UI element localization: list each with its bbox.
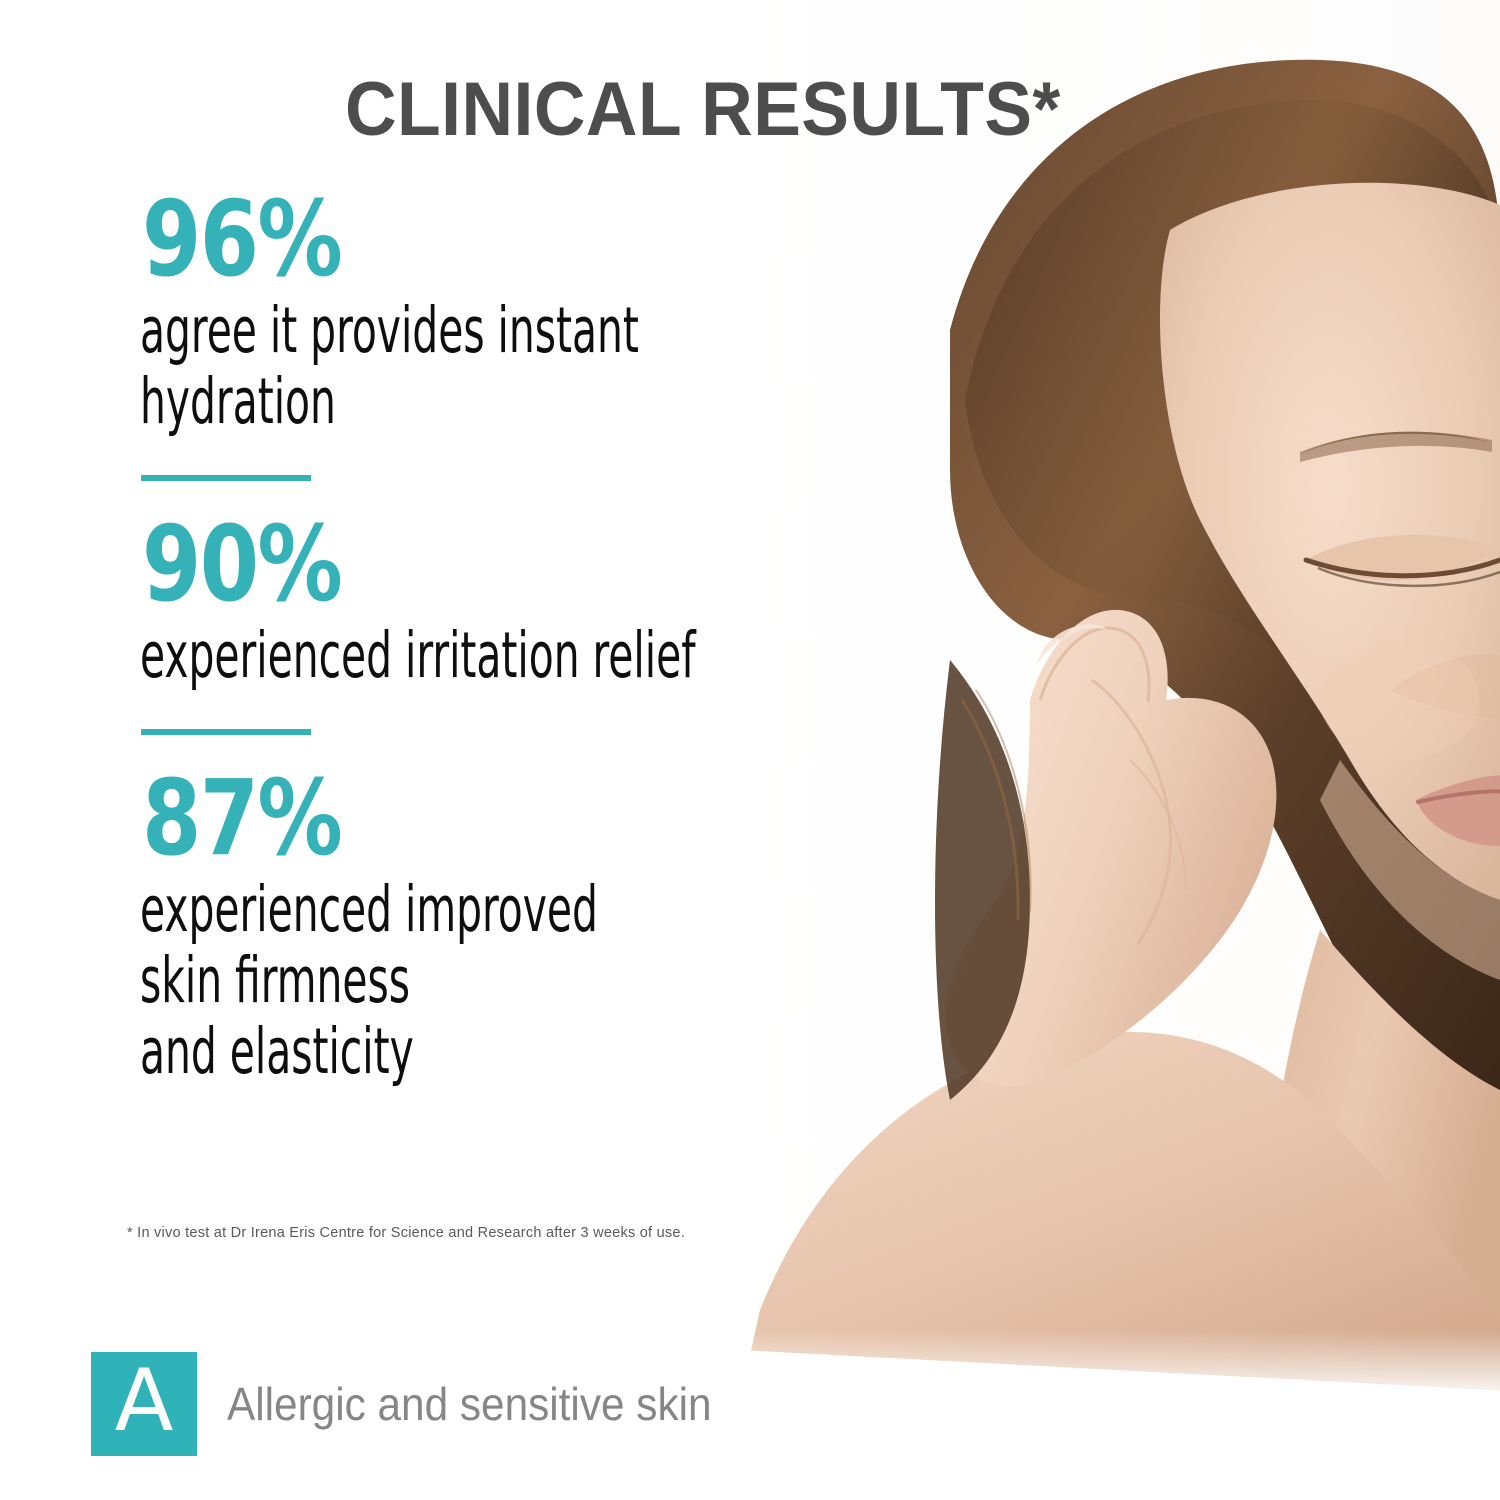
footnote: * In vivo test at Dr Irena Eris Centre f… xyxy=(127,1225,685,1242)
page-title: CLINICAL RESULTS* xyxy=(345,72,1061,148)
stat-item: 87% experienced improved skin firmness a… xyxy=(140,769,1100,1087)
stat-percent: 96% xyxy=(142,190,928,289)
clinical-results-infographic: CLINICAL RESULTS* 96% agree it provides … xyxy=(0,0,1500,1500)
badge-letter: A xyxy=(115,1358,174,1444)
stat-divider xyxy=(141,729,311,735)
stats-list: 96% agree it provides instant hydration … xyxy=(140,190,1100,1088)
stat-divider xyxy=(141,475,311,481)
stat-percent: 90% xyxy=(142,515,928,614)
stat-item: 90% experienced irritation relief xyxy=(140,515,1100,735)
stat-description: experienced irritation relief xyxy=(140,620,831,691)
stat-item: 96% agree it provides instant hydration xyxy=(140,190,1100,481)
stat-description: agree it provides instant hydration xyxy=(140,295,831,437)
stat-percent: 87% xyxy=(142,769,928,868)
stat-description: experienced improved skin firmness and e… xyxy=(140,874,831,1088)
allergy-badge: A Allergic and sensitive skin xyxy=(91,1352,754,1456)
badge-square-icon: A xyxy=(91,1352,197,1456)
badge-label: Allergic and sensitive skin xyxy=(227,1381,712,1427)
